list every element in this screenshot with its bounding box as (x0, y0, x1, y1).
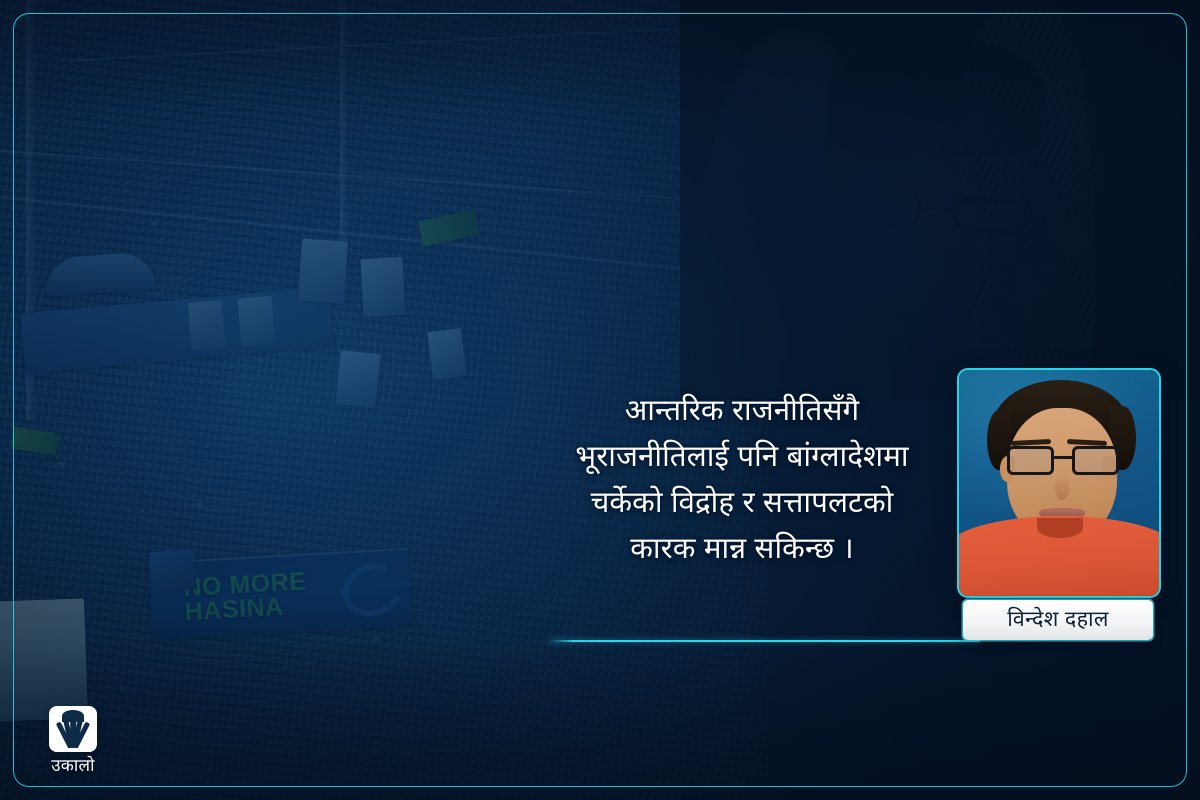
eyeglasses-icon (1007, 446, 1119, 476)
quote-line-4: कारक मान्न सकिन्छ । (518, 526, 966, 572)
ukaalo-logo[interactable]: उकालो (36, 706, 110, 778)
quote-line-3: चर्केको विद्रोह र सत्तापलटको (518, 480, 966, 526)
quote-line-1: आन्तरिक राजनीतिसँगै (518, 388, 966, 434)
author-shirt (957, 516, 1161, 598)
quote-card: NO MORE HASINA आन्तरिक राजनीतिसँगै भूराज… (0, 0, 1200, 800)
author-name-text: विन्देश दहाल (1007, 609, 1109, 631)
ukaalo-logo-text: उकालो (51, 757, 95, 774)
quote-block: आन्तरिक राजनीतिसँगै भूराजनीतिलाई पनि बां… (518, 388, 966, 572)
author-nose (1055, 474, 1069, 500)
quote-divider-line (548, 640, 980, 642)
author-name-badge: विन्देश दहाल (963, 600, 1153, 640)
quote-line-2: भूराजनीतिलाई पनि बांग्लादेशमा (518, 434, 966, 480)
ukaalo-mark-icon (49, 706, 97, 752)
author-portrait (957, 368, 1161, 598)
